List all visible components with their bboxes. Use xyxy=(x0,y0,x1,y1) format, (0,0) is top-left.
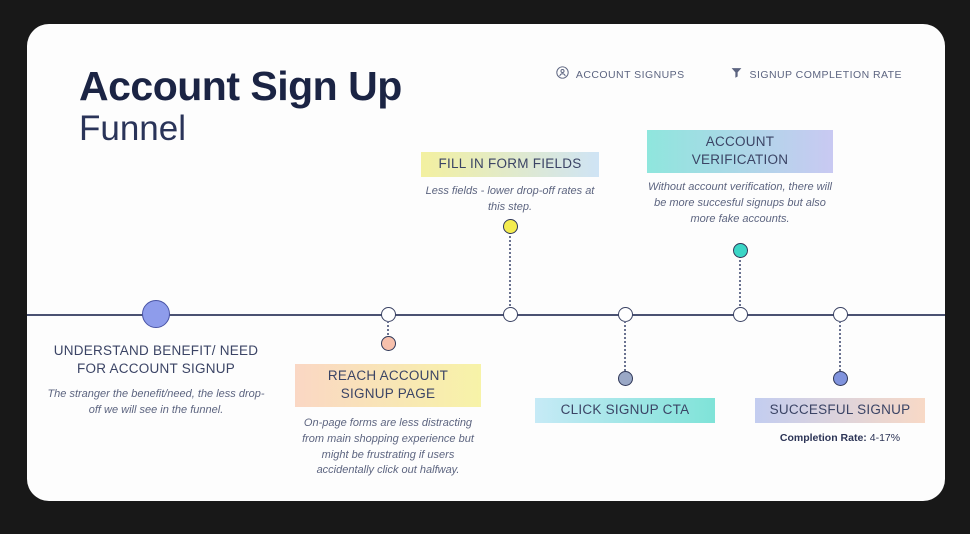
funnel-icon xyxy=(730,66,743,84)
milestone-description: Without account verification, there will… xyxy=(647,180,833,228)
timeline-node-understand-benefit[interactable] xyxy=(142,300,170,328)
milestone-click-signup-cta: CLICK SIGNUP CTA xyxy=(535,398,715,423)
page-title: Account Sign Up Funnel xyxy=(79,64,402,150)
marker-account-verification[interactable] xyxy=(733,243,748,258)
connector-reach-account-signup-page xyxy=(387,321,389,335)
milestone-title: ACCOUNT VERIFICATION xyxy=(647,130,833,173)
marker-succesful-signup[interactable] xyxy=(833,371,848,386)
title-main: Account Sign Up xyxy=(79,64,402,108)
milestone-description: Less fields - lower drop-off rates at th… xyxy=(421,184,599,216)
connector-succesful-signup xyxy=(839,321,841,371)
milestone-title: REACH ACCOUNT SIGNUP PAGE xyxy=(295,364,481,407)
milestone-fill-in-form-fields: FILL IN FORM FIELDS Less fields - lower … xyxy=(421,152,599,216)
connector-click-signup-cta xyxy=(624,321,626,371)
milestone-succesful-signup: SUCCESFUL SIGNUP Completion Rate: 4-17% xyxy=(755,398,925,444)
slide-card: Account Sign Up Funnel ACCOUNT SIGNUPS xyxy=(27,24,945,501)
milestone-title: SUCCESFUL SIGNUP xyxy=(755,398,925,423)
marker-fill-in-form-fields[interactable] xyxy=(503,219,518,234)
timeline-node-fill-in-form-fields[interactable] xyxy=(503,307,518,322)
marker-reach-account-signup-page[interactable] xyxy=(381,336,396,351)
milestone-reach-account-signup-page: REACH ACCOUNT SIGNUP PAGE On-page forms … xyxy=(295,364,481,479)
completion-rate-note: Completion Rate: 4-17% xyxy=(755,432,925,444)
milestone-title: UNDERSTAND BENEFIT/ NEED FOR ACCOUNT SIG… xyxy=(46,342,266,378)
timeline-node-account-verification[interactable] xyxy=(733,307,748,322)
legend: ACCOUNT SIGNUPS SIGNUP COMPLETION RATE xyxy=(556,66,902,84)
marker-click-signup-cta[interactable] xyxy=(618,371,633,386)
milestone-understand-benefit: UNDERSTAND BENEFIT/ NEED FOR ACCOUNT SIG… xyxy=(46,342,266,419)
screen: Account Sign Up Funnel ACCOUNT SIGNUPS xyxy=(0,0,970,534)
legend-item-completion-rate[interactable]: SIGNUP COMPLETION RATE xyxy=(730,66,902,84)
connector-account-verification xyxy=(739,256,741,306)
milestone-title: CLICK SIGNUP CTA xyxy=(535,398,715,423)
completion-rate-label: Completion Rate: xyxy=(780,432,867,444)
timeline-node-succesful-signup[interactable] xyxy=(833,307,848,322)
timeline-node-click-signup-cta[interactable] xyxy=(618,307,633,322)
timeline-node-reach-account-signup-page[interactable] xyxy=(381,307,396,322)
legend-item-account-signups[interactable]: ACCOUNT SIGNUPS xyxy=(556,66,685,84)
title-sub: Funnel xyxy=(79,109,402,149)
connector-fill-in-form-fields xyxy=(509,232,511,306)
milestone-description: The stranger the benefit/need, the less … xyxy=(46,387,266,419)
milestone-account-verification: ACCOUNT VERIFICATION Without account ver… xyxy=(647,130,833,227)
completion-rate-value: 4-17% xyxy=(867,432,900,444)
milestone-description: On-page forms are less distracting from … xyxy=(295,416,481,480)
milestone-title: FILL IN FORM FIELDS xyxy=(421,152,599,177)
account-signups-icon xyxy=(556,66,569,84)
legend-label-completion-rate: SIGNUP COMPLETION RATE xyxy=(750,69,902,81)
legend-label-account-signups: ACCOUNT SIGNUPS xyxy=(576,69,685,81)
